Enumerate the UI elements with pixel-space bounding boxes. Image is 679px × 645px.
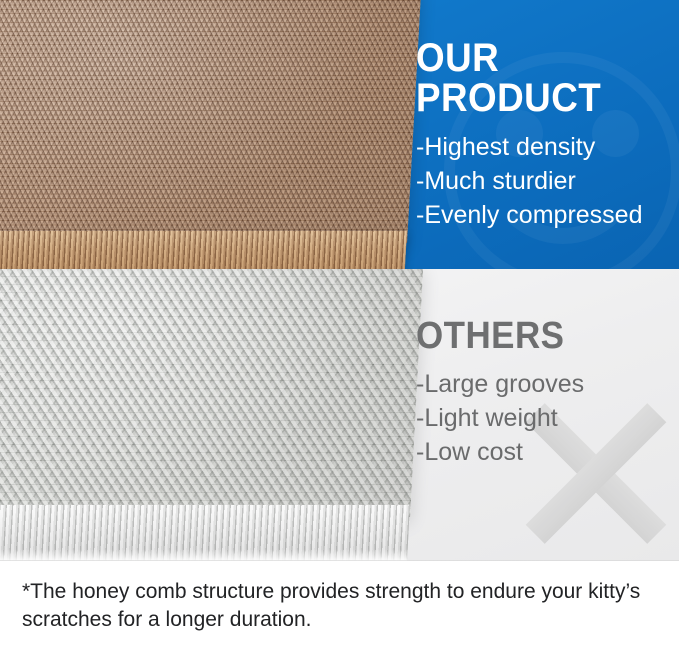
others-bullet-1: -Large grooves [416,367,674,401]
brown-pad-corrugated-edge [0,231,407,269]
gray-foam-pad-image [0,269,410,561]
our-product-bullet-list: -Highest density -Much sturdier -Evenly … [416,130,674,232]
comparison-infographic: OUR PRODUCT -Highest density -Much sturd… [0,0,679,645]
our-product-bullet-1: -Highest density [416,130,674,164]
gray-pad-surface [0,269,423,517]
gray-pad-corrugated-edge [0,505,410,561]
footnote-text: *The honey comb structure provides stren… [22,578,662,634]
others-bullet-list: -Large grooves -Light weight -Low cost [416,367,674,469]
our-product-bullet-3: -Evenly compressed [416,198,674,232]
our-product-text-block: OUR PRODUCT -Highest density -Much sturd… [416,38,674,232]
brown-pad-surface [0,0,421,243]
others-text-block: OTHERS -Large grooves -Light weight -Low… [416,317,674,469]
others-bullet-3: -Low cost [416,435,674,469]
others-bullet-2: -Light weight [416,401,674,435]
brown-honeycomb-pad-image [0,0,407,269]
others-heading: OTHERS [416,317,653,355]
our-product-heading: OUR PRODUCT [416,38,653,118]
our-product-bullet-2: -Much sturdier [416,164,674,198]
footnote-area: *The honey comb structure provides stren… [0,561,679,645]
